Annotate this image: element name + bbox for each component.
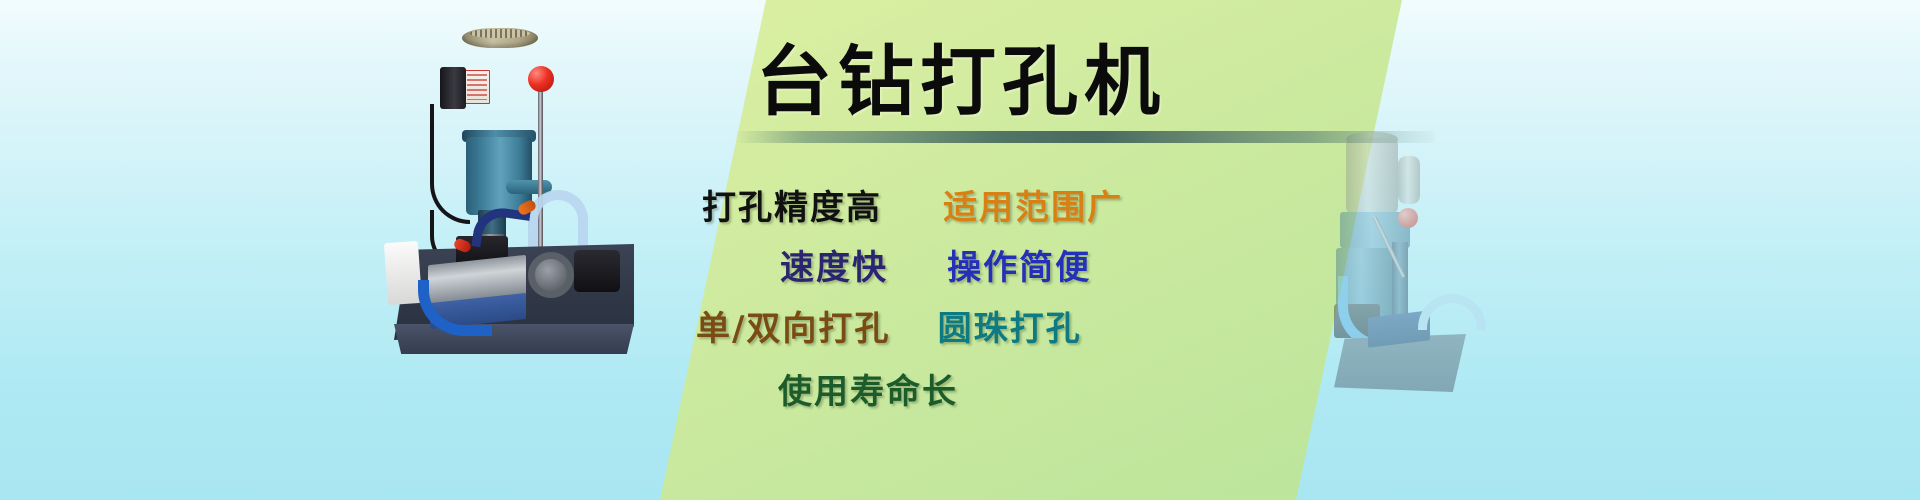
feature-lifespan: 使用寿命长 [778,364,958,413]
coolant-pump [574,250,620,292]
feature-precision: 打孔精度高 [702,180,882,229]
motor-nameplate-label [464,70,490,104]
feature-operation: 操作简便 [947,240,1091,289]
feature-direction: 单/双向打孔 [696,301,890,350]
feature-row-3: 单/双向打孔 圆珠打孔 [696,301,1082,350]
feature-application: 适用范围广 [943,180,1123,229]
product-banner: 台钻打孔机 打孔精度高 适用范围广 速度快 操作简便 单/双向打孔 圆珠打孔 使… [0,0,1920,500]
red-knob-icon [528,66,554,92]
banner-title: 台钻打孔机 [756,38,1396,126]
white-control-box [384,241,422,305]
junction-box [440,67,466,109]
machine-left-image [378,12,648,362]
hand-wheel [528,252,574,298]
feature-ball-hole: 圆珠打孔 [938,301,1082,350]
feature-row-2: 速度快 操作简便 [780,240,1091,289]
capacitor-housing [1398,156,1420,204]
feature-row-4: 使用寿命长 [778,364,958,413]
machine-right-image [1334,108,1524,398]
title-divider [735,131,1435,143]
feature-list: 打孔精度高 适用范围广 速度快 操作简便 单/双向打孔 圆珠打孔 使用寿命长 [660,168,1360,468]
red-knob-icon-right [1398,208,1418,228]
clear-hose-right [1418,294,1486,330]
feature-speed: 速度快 [780,240,888,289]
feature-row-1: 打孔精度高 适用范围广 [702,180,1123,229]
